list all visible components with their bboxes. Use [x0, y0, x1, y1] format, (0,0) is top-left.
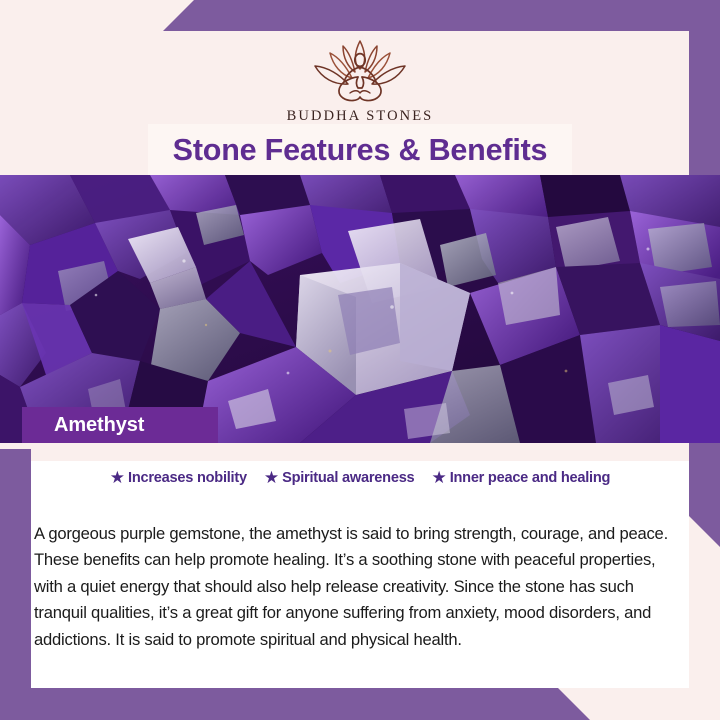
- lotus-meditation-figure-icon: [300, 35, 420, 107]
- benefit-label-2: Spiritual awareness: [282, 470, 414, 486]
- stone-description: A gorgeous purple gemstone, the amethyst…: [34, 521, 686, 654]
- content-top-fade: [31, 443, 689, 461]
- benefit-label-1: Increases nobility: [128, 470, 247, 486]
- frame-band-top: [0, 0, 720, 31]
- hero-amethyst-image: [0, 175, 720, 443]
- star-icon: ★: [110, 469, 125, 486]
- benefit-item-1: ★ Increases nobility: [110, 469, 247, 486]
- title-banner: Stone Features & Benefits: [148, 124, 572, 176]
- page-title: Stone Features & Benefits: [173, 133, 548, 168]
- stone-name-label: Amethyst: [54, 414, 144, 437]
- benefit-label-3: Inner peace and healing: [450, 470, 611, 486]
- content-panel: ★ Increases nobility ★ Spiritual awarene…: [31, 443, 689, 688]
- stone-name-tag: Amethyst: [22, 407, 218, 443]
- brand-logo-group: BUDDHA STONES: [31, 35, 689, 125]
- star-icon: ★: [264, 469, 279, 486]
- amethyst-crystal-cluster-photo: [0, 175, 720, 443]
- benefit-item-3: ★ Inner peace and healing: [431, 469, 610, 486]
- frame-band-left: [0, 449, 31, 720]
- frame-band-bottom: [0, 688, 590, 720]
- star-icon: ★: [431, 469, 446, 486]
- infographic-page: BUDDHA STONES Stone Features & Benefits: [0, 0, 720, 720]
- benefit-item-2: ★ Spiritual awareness: [264, 469, 415, 486]
- brand-name: BUDDHA STONES: [287, 108, 434, 125]
- benefits-row: ★ Increases nobility ★ Spiritual awarene…: [31, 469, 689, 486]
